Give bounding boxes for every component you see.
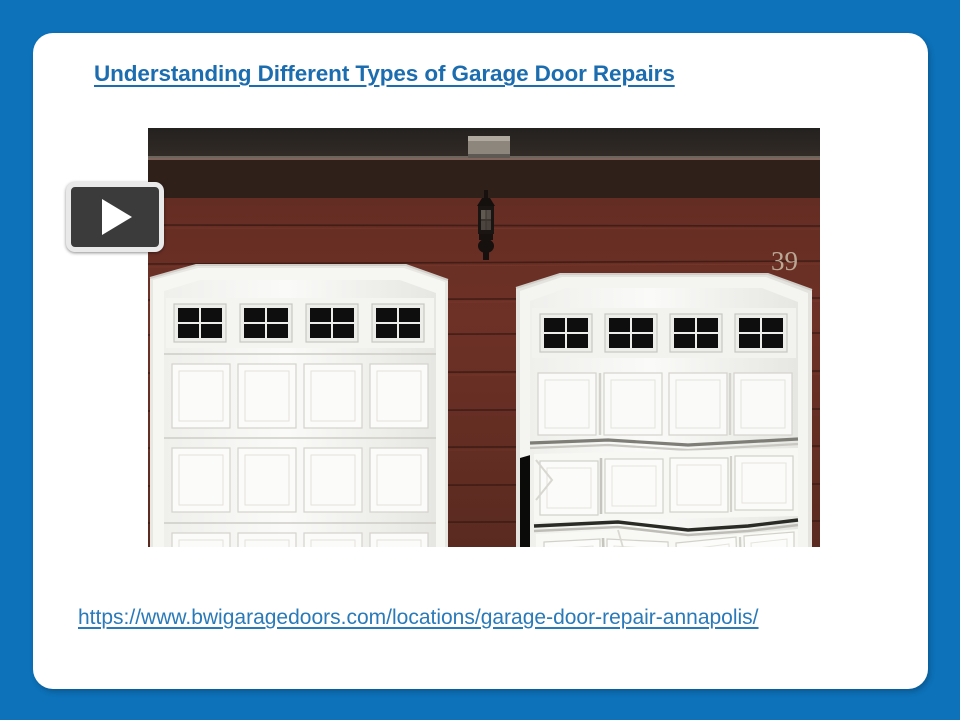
right-garage-door-damaged xyxy=(516,274,812,547)
garage-door-photo: 39 xyxy=(148,128,820,547)
right-door-windows xyxy=(532,308,796,358)
house-number: 39 xyxy=(771,246,798,276)
video-play-button[interactable] xyxy=(66,182,164,252)
garage-photo-illustration: 39 xyxy=(148,128,820,547)
soffit-box xyxy=(468,136,510,158)
left-door-windows xyxy=(166,298,434,348)
right-door-panel-row-2 xyxy=(534,448,798,522)
page-title: Understanding Different Types of Garage … xyxy=(94,59,884,89)
slide-canvas: Understanding Different Types of Garage … xyxy=(0,0,960,720)
content-card: Understanding Different Types of Garage … xyxy=(33,33,928,689)
left-garage-door xyxy=(150,265,448,547)
source-url-link[interactable]: https://www.bwigaragedoors.com/locations… xyxy=(78,603,878,633)
play-icon xyxy=(102,199,132,235)
